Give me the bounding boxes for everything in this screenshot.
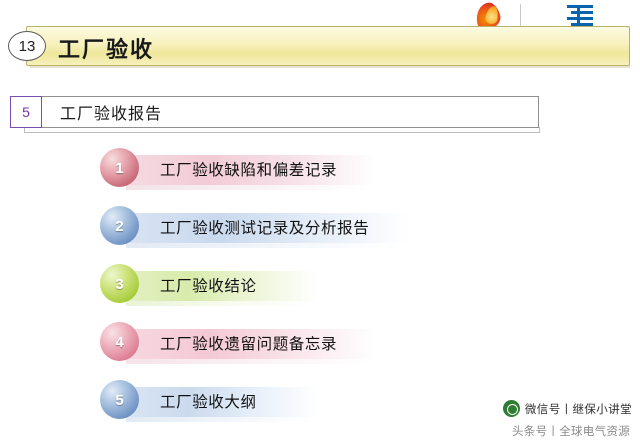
item-number-badge: 5 <box>100 380 139 419</box>
item-label: 工厂验收结论 <box>160 274 257 296</box>
section-number-badge: 5 <box>10 96 42 128</box>
item-bar-shadow <box>126 417 312 422</box>
list-item[interactable]: 1 工厂验收缺陷和偏差记录 <box>0 148 640 206</box>
wechat-badge-icon <box>503 400 520 417</box>
list-item[interactable]: 4 工厂验收遗留问题备忘录 <box>0 322 640 380</box>
item-number: 5 <box>115 392 123 409</box>
item-label: 工厂验收遗留问题备忘录 <box>160 332 337 354</box>
item-number: 2 <box>115 218 123 235</box>
chapter-title-bar: 13 工厂验收 <box>8 26 628 66</box>
section-header: 5 工厂验收报告 <box>10 96 540 132</box>
section-title: 工厂验收报告 <box>60 100 162 124</box>
item-number-badge: 3 <box>100 264 139 303</box>
item-label: 工厂验收测试记录及分析报告 <box>160 216 369 238</box>
watermark-footer: 头条号丨全球电气资源 <box>512 423 630 439</box>
item-label: 工厂验收大纲 <box>160 390 257 412</box>
watermark-account-text: 微信号丨继保小讲堂 <box>525 401 632 417</box>
list-item[interactable]: 2 工厂验收测试记录及分析报告 <box>0 206 640 264</box>
chapter-number-badge: 13 <box>8 31 46 61</box>
item-number: 3 <box>115 276 123 293</box>
item-number: 1 <box>115 160 123 177</box>
bullet-list: 1 工厂验收缺陷和偏差记录 2 工厂验收测试记录及分析报告 3 工厂验收结论 4… <box>0 148 640 438</box>
list-item[interactable]: 3 工厂验收结论 <box>0 264 640 322</box>
item-bar-shadow <box>126 359 370 364</box>
item-bar-shadow <box>126 243 402 248</box>
item-number-badge: 2 <box>100 206 139 245</box>
item-label: 工厂验收缺陷和偏差记录 <box>160 158 337 180</box>
item-bar-shadow <box>126 185 370 190</box>
page-title: 工厂验收 <box>58 32 154 64</box>
item-number: 4 <box>115 334 123 351</box>
item-number-badge: 1 <box>100 148 139 187</box>
item-number-badge: 4 <box>100 322 139 361</box>
item-bar-shadow <box>126 301 312 306</box>
slide: Guangzhou 中国南方电网 广州2010年亚运会高级合作伙伴 Guangz… <box>0 0 640 443</box>
watermark-account: 微信号丨继保小讲堂 <box>503 400 632 417</box>
